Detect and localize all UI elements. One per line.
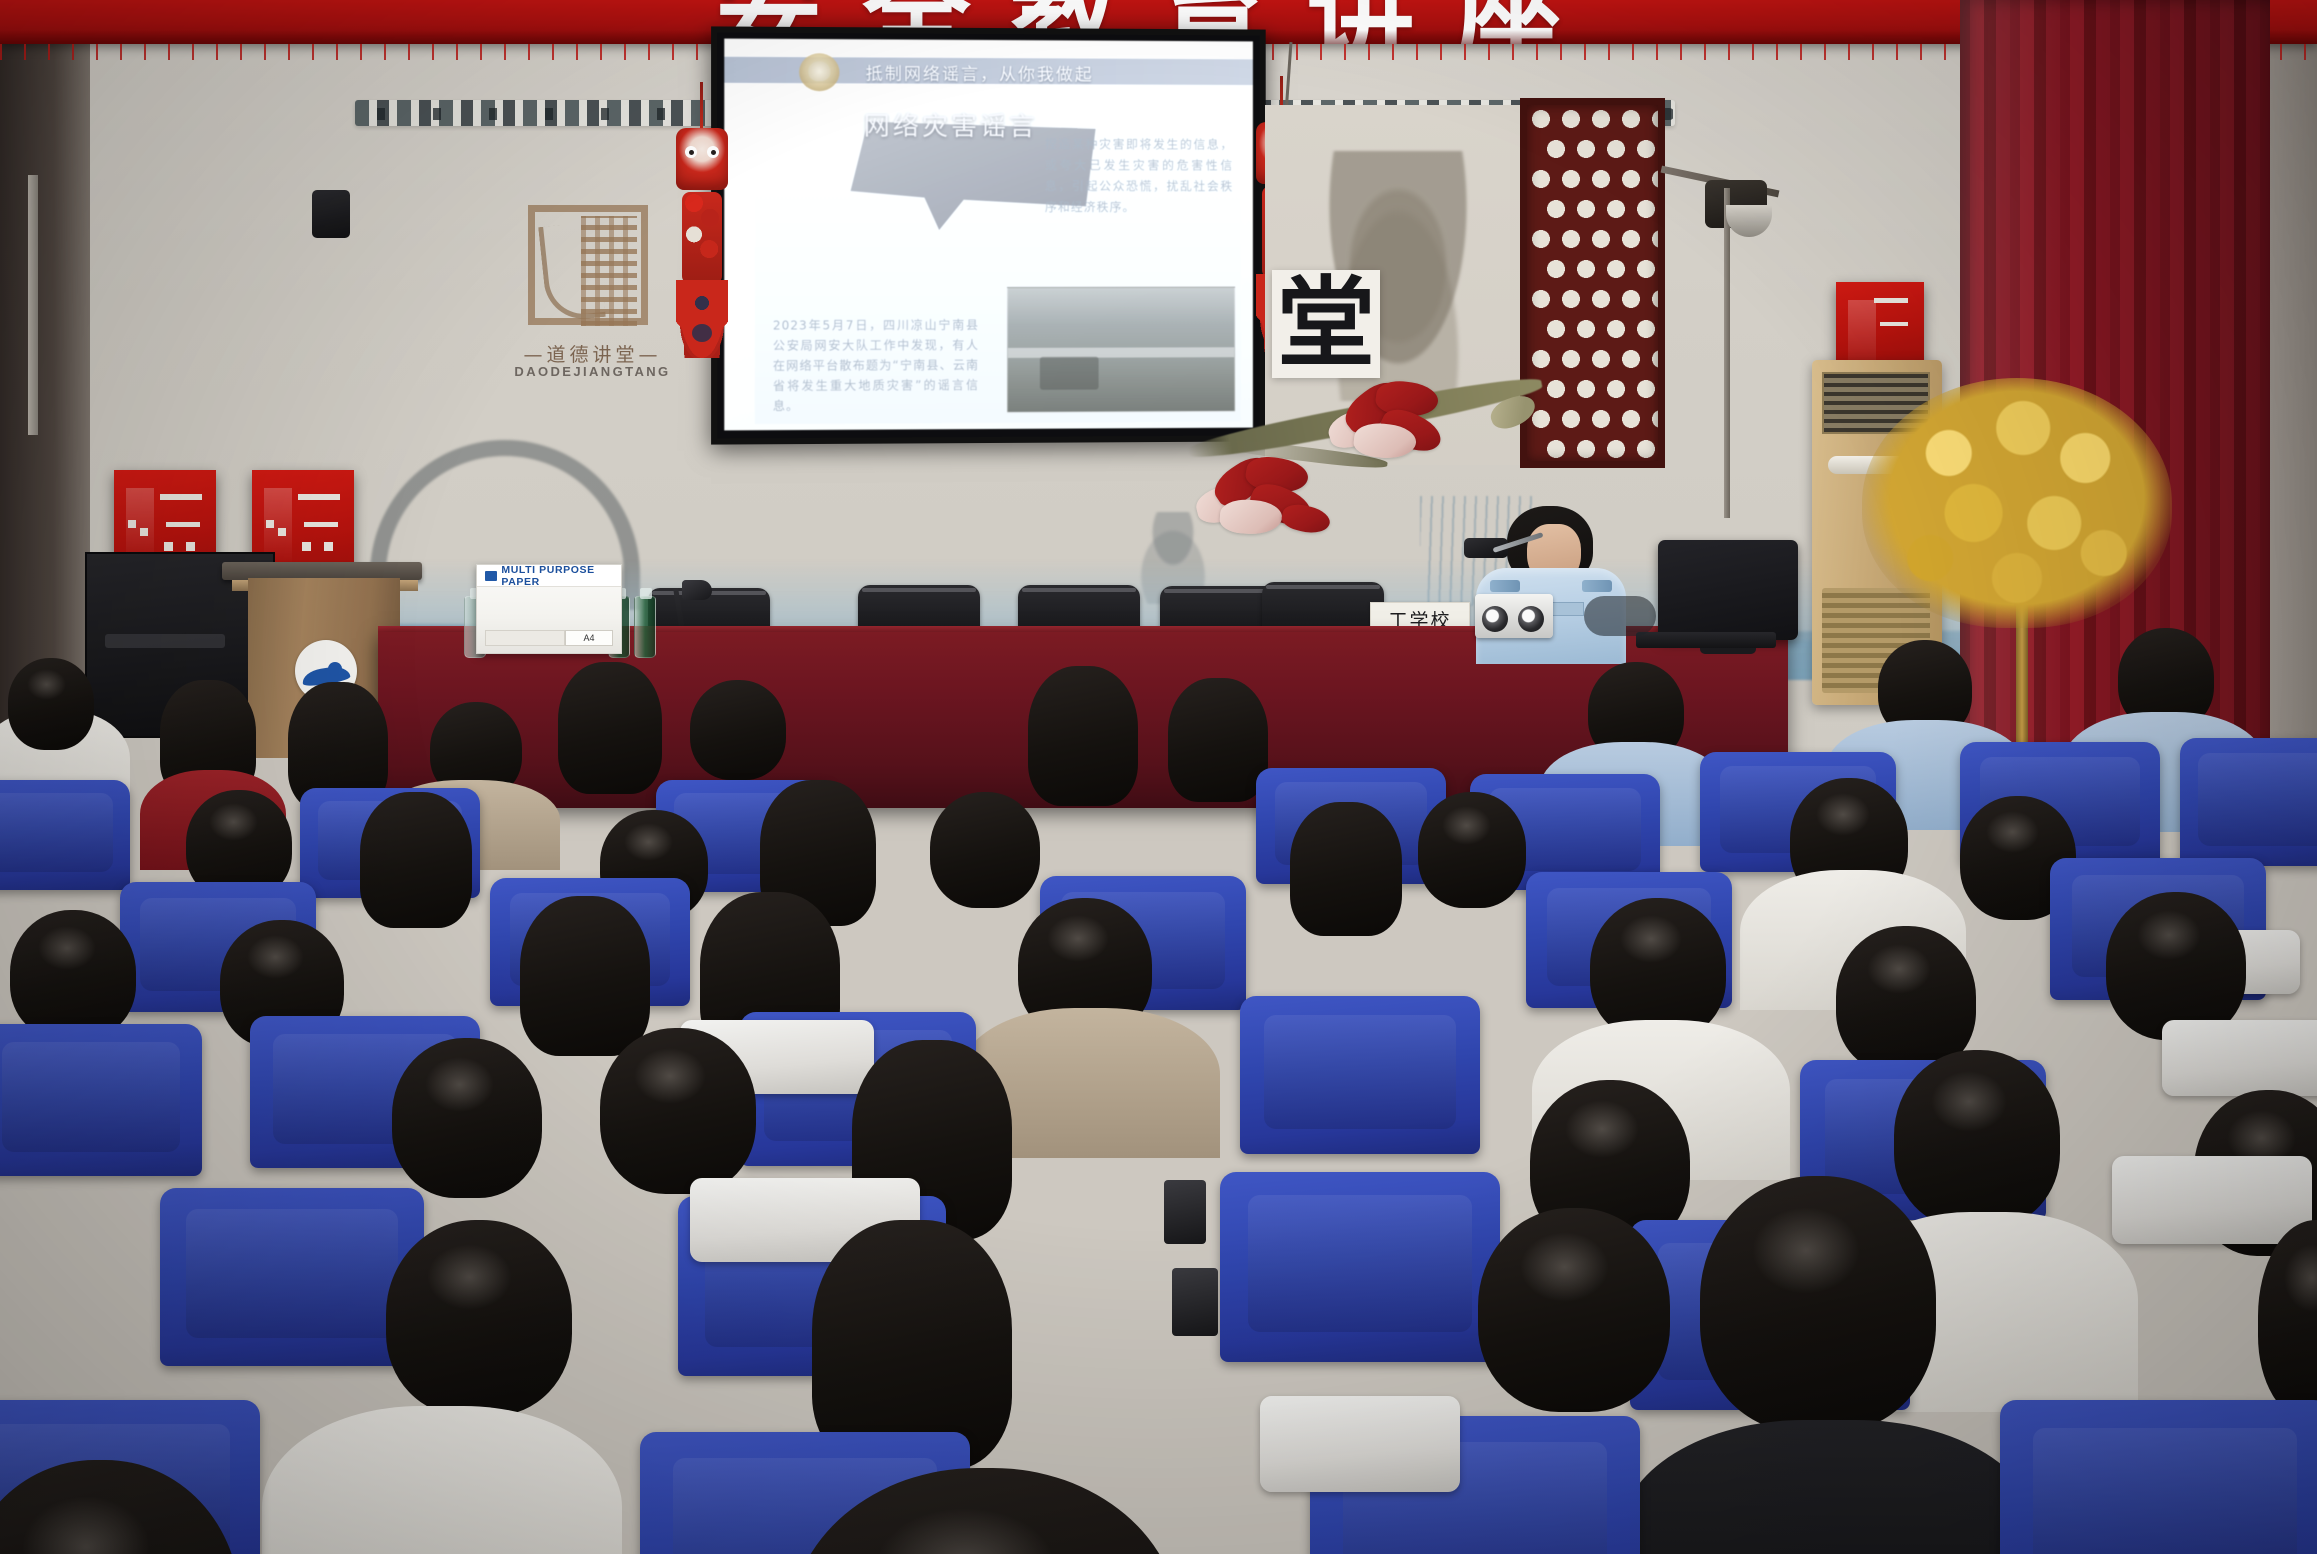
audience-head xyxy=(1894,1050,2060,1228)
auditorium-seat[interactable] xyxy=(2180,738,2317,866)
lion-head-icon xyxy=(676,128,728,190)
auditorium-seat[interactable] xyxy=(2000,1400,2317,1554)
mobile-phone[interactable] xyxy=(1172,1268,1218,1336)
projection-screen: 抵制网络谣言，从你我做起 捏造某种灾害即将发生的信息，或夸大已发生灾害的危害性信… xyxy=(711,26,1266,444)
paper-brand-logo-icon xyxy=(485,571,497,581)
magnolia-flower-upper xyxy=(1328,380,1456,480)
audience-head xyxy=(10,910,136,1040)
audience-head xyxy=(690,680,786,780)
wall-pipe xyxy=(28,175,38,435)
audience-head xyxy=(1418,792,1526,908)
hall-character-sign: 堂 xyxy=(1272,270,1380,378)
slide-left-paragraph: 2023年5月7日，四川凉山宁南县公安局网安大队工作中发现，有人在网络平台散布题… xyxy=(773,315,979,416)
mobile-phone[interactable] xyxy=(1164,1180,1206,1244)
fu-cut xyxy=(304,522,338,527)
auditorium-seat[interactable] xyxy=(160,1188,424,1366)
audience-area xyxy=(0,620,2317,1554)
audience-head xyxy=(1028,666,1138,806)
uniform-badge-patch xyxy=(1550,602,1584,616)
fu-cut xyxy=(166,522,200,527)
auditorium-seat[interactable] xyxy=(1220,1172,1500,1362)
epaulet xyxy=(1582,580,1612,592)
audience-head xyxy=(930,792,1040,908)
police-badge-icon xyxy=(799,53,839,91)
daode-logo-pinyin: DAODEJIANGTANG xyxy=(510,364,675,379)
daode-seal-logo xyxy=(528,205,648,325)
ornament-fan xyxy=(676,280,728,358)
lattice-window-panel xyxy=(1520,98,1665,468)
auditorium-seat[interactable] xyxy=(0,780,130,890)
audience-head xyxy=(386,1220,572,1416)
seat-writing-tablet[interactable] xyxy=(1260,1396,1460,1492)
support-pole xyxy=(1724,188,1730,518)
slide-header-title: 抵制网络谣言，从你我做起 xyxy=(866,59,1094,85)
fu-cut xyxy=(128,520,136,528)
audience-shoulders xyxy=(1620,1420,2040,1554)
petal xyxy=(1280,501,1333,538)
audience-head xyxy=(1168,678,1268,802)
fu-cut xyxy=(266,520,274,528)
fu-cut xyxy=(298,494,340,500)
microphone-icon xyxy=(682,580,712,600)
slide-photo xyxy=(1007,287,1235,413)
fu-cut xyxy=(302,542,311,551)
audience-head xyxy=(1700,1176,1936,1432)
audience-head xyxy=(520,896,650,1056)
audience-head xyxy=(558,662,662,794)
wall-speaker-icon xyxy=(312,190,350,238)
daode-logo-title: —道德讲堂— xyxy=(510,340,675,367)
audience-head xyxy=(2106,892,2246,1040)
audience-head xyxy=(360,792,472,928)
seat-writing-tablet[interactable] xyxy=(2112,1156,2312,1244)
audience-head xyxy=(1290,802,1402,936)
paper-box-band: MULTI PURPOSE PAPER xyxy=(477,565,621,587)
fu-cut xyxy=(160,494,202,500)
audience-head xyxy=(600,1028,756,1194)
audience-head xyxy=(392,1038,542,1198)
fu-cut xyxy=(1874,298,1908,303)
audience-head xyxy=(1478,1208,1670,1412)
fu-cut xyxy=(164,542,173,551)
seal-characters xyxy=(581,216,637,326)
seat-writing-tablet[interactable] xyxy=(2162,1020,2317,1096)
audience-shoulders xyxy=(262,1406,622,1554)
auditorium-photo: 安全教育讲座 抵制网络谣言，从你我做起 捏造某种灾害即将发生的信息，或夸大已发生… xyxy=(0,0,2317,1554)
audience-head xyxy=(1590,898,1726,1040)
magnolia-flower-small xyxy=(1278,500,1358,550)
ornament-tassel xyxy=(682,192,722,284)
paper-box-brand: MULTI PURPOSE PAPER xyxy=(501,564,621,588)
audience-head xyxy=(8,658,94,750)
slide-surface: 抵制网络谣言，从你我做起 捏造某种灾害即将发生的信息，或夸大已发生灾害的危害性信… xyxy=(724,39,1253,431)
fu-character-on-ac xyxy=(1836,282,1924,366)
slide-callout-label: 网络灾害谣言 xyxy=(856,106,1046,144)
auditorium-seat[interactable] xyxy=(0,1024,202,1176)
auditorium-seat[interactable] xyxy=(1240,996,1480,1154)
slide-right-paragraph: 捏造某种灾害即将发生的信息，或夸大已发生灾害的危害性信息，引起公众恐慌，扰乱社会… xyxy=(1045,134,1233,218)
gold-foil-tree xyxy=(1862,378,2172,628)
ornament-string xyxy=(700,82,703,132)
fu-cut xyxy=(1880,322,1908,326)
epaulet xyxy=(1490,580,1520,592)
